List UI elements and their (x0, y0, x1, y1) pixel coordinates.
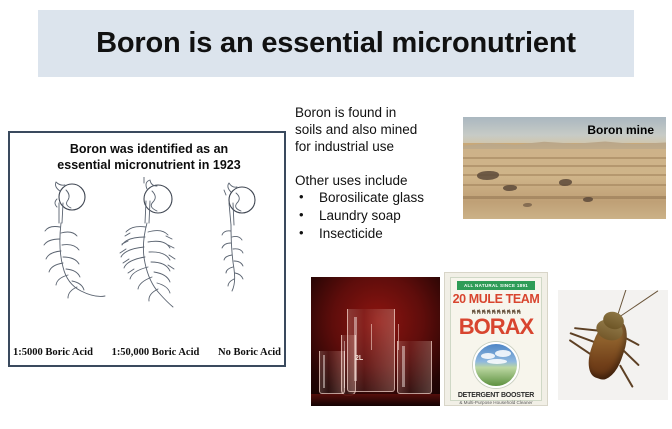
boron-mine-photo: Boron mine (463, 117, 666, 219)
list-item: • Borosilicate glass (295, 189, 465, 207)
borosilicate-glassware-photo: 2L (311, 277, 440, 406)
body-text-column: Boron is found in soils and also mined f… (295, 104, 465, 243)
mine-ground (463, 149, 666, 219)
figure-caption-line-2: essential micronutrient in 1923 (18, 157, 280, 173)
borax-box-face: ALL NATURAL SINCE 1891 20 MULE TEAM BORA… (450, 277, 542, 401)
other-uses-heading: Other uses include (295, 172, 465, 189)
intro-line-1: Boron is found in (295, 104, 465, 121)
borax-top-banner: ALL NATURAL SINCE 1891 (457, 281, 535, 290)
borax-subtitle-small: & Multi-Purpose Household Cleaner (451, 400, 541, 405)
page-title: Boron is an essential micronutrient (96, 27, 576, 60)
roach-leg (619, 364, 633, 387)
borax-product-name: BORAX (451, 315, 541, 338)
glass-graduated-cylinder (341, 335, 356, 396)
boron-experiment-figure: Boron was identified as an essential mic… (8, 131, 286, 367)
intro-paragraph: Boron is found in soils and also mined f… (295, 104, 465, 155)
roach-leg (574, 327, 598, 331)
glass-beaker-medium (397, 341, 432, 394)
borax-subtitle: DETERGENT BOOSTER (451, 392, 541, 399)
intro-line-3: for industrial use (295, 138, 465, 155)
other-uses-list: • Borosilicate glass • Laundry soap • In… (295, 189, 465, 243)
borax-mule-team-icon (451, 307, 541, 314)
figure-treatment-labels: 1:5000 Boric Acid 1:50,000 Boric Acid No… (13, 347, 281, 358)
figure-label-2: No Boric Acid (218, 347, 281, 358)
roach-antenna (620, 290, 659, 317)
bullet-icon: • (299, 206, 304, 224)
bullet-icon: • (299, 188, 304, 206)
mine-photo-label: Boron mine (587, 123, 654, 137)
figure-label-0: 1:5000 Boric Acid (13, 347, 93, 358)
borax-box-photo: ALL NATURAL SINCE 1891 20 MULE TEAM BORA… (444, 272, 548, 406)
intro-line-2: soils and also mined (295, 121, 465, 138)
figure-caption: Boron was identified as an essential mic… (18, 141, 280, 173)
slide-title-banner: Boron is an essential micronutrient (38, 10, 634, 77)
roach-antenna (617, 290, 631, 315)
cockroach-photo (558, 290, 668, 400)
borax-brand-name: 20 MULE TEAM (451, 293, 541, 306)
figure-caption-line-1: Boron was identified as an (18, 141, 280, 157)
borax-globe-icon (473, 342, 519, 388)
use-label-0: Borosilicate glass (319, 190, 424, 205)
list-item: • Laundry soap (295, 207, 465, 225)
figure-label-1: 1:50,000 Boric Acid (112, 347, 200, 358)
glass-shelf (311, 394, 440, 406)
use-label-1: Laundry soap (319, 208, 401, 223)
seedling-diagram-icon (10, 177, 284, 327)
use-label-2: Insecticide (319, 226, 383, 241)
glass-volume-label: 2L (355, 355, 363, 362)
list-item: • Insecticide (295, 225, 465, 243)
bullet-icon: • (299, 224, 304, 242)
